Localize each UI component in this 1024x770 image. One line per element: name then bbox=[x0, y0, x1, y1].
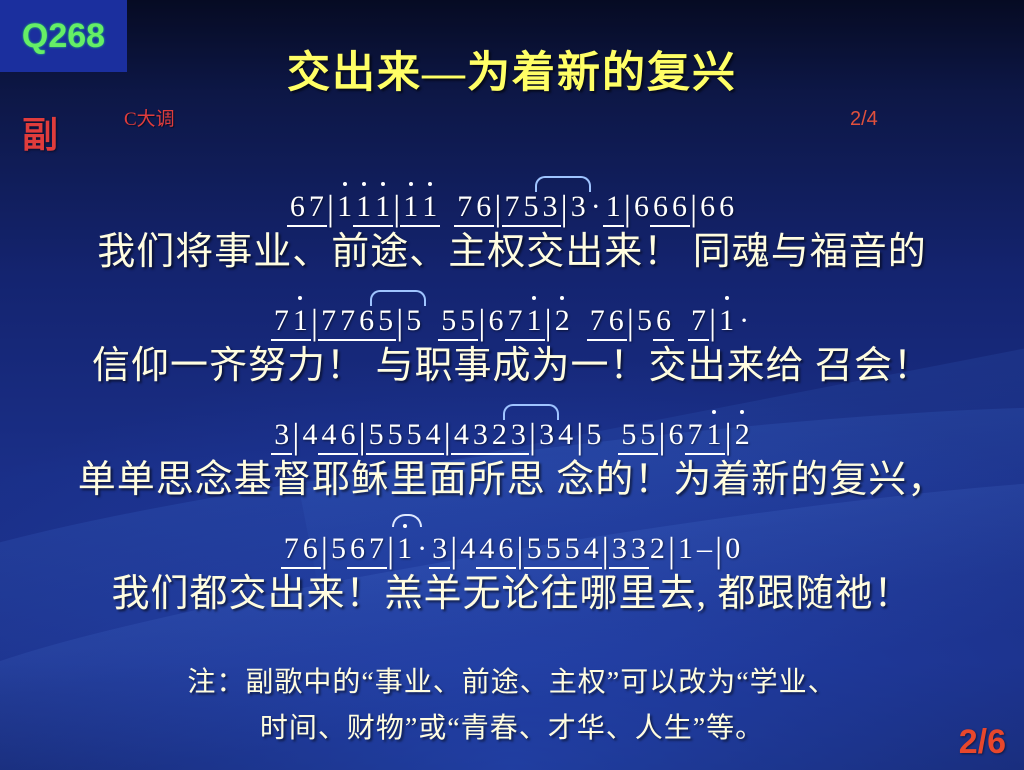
note: 5 bbox=[525, 534, 544, 564]
note: 6 bbox=[651, 192, 670, 222]
barline: | bbox=[357, 421, 366, 451]
barline: | bbox=[477, 307, 486, 337]
barline: | bbox=[528, 421, 537, 451]
note: 7 bbox=[307, 192, 326, 222]
note: 5 bbox=[458, 306, 477, 336]
note: 4 bbox=[424, 420, 443, 450]
note: 4 bbox=[319, 420, 338, 450]
note: 3 bbox=[272, 420, 291, 450]
duration-dot: · bbox=[736, 306, 752, 336]
note: 6 bbox=[698, 192, 717, 222]
note: 7 bbox=[506, 306, 525, 336]
key-signature-label: C大调 bbox=[124, 104, 175, 131]
note: 1 bbox=[525, 306, 544, 336]
note: 6 bbox=[496, 534, 515, 564]
note: 6 bbox=[667, 420, 686, 450]
note: 3 bbox=[610, 534, 629, 564]
barline: | bbox=[320, 535, 329, 565]
note: 5 bbox=[638, 420, 657, 450]
barline: | bbox=[544, 307, 553, 337]
note: 6 bbox=[717, 192, 736, 222]
barline: | bbox=[708, 307, 717, 337]
slide-canvas: Q268 交出来—为着新的复兴 副 C大调 2/4 67|111|1176|75… bbox=[0, 0, 1024, 770]
note: 3 bbox=[537, 420, 556, 450]
barline: | bbox=[291, 421, 300, 451]
note: 7 bbox=[689, 306, 708, 336]
note: 1 bbox=[373, 192, 392, 222]
duration-dot: · bbox=[588, 192, 604, 222]
note: 5 bbox=[619, 420, 638, 450]
note: 2 bbox=[648, 534, 667, 564]
barline: | bbox=[714, 535, 723, 565]
note: 5 bbox=[404, 306, 423, 336]
barline: | bbox=[326, 193, 335, 223]
page-title: 交出来—为着新的复兴 bbox=[0, 38, 1024, 100]
note: 1 bbox=[717, 306, 736, 336]
note: 4 bbox=[452, 420, 471, 450]
barline: | bbox=[667, 535, 676, 565]
note: 1 bbox=[335, 192, 354, 222]
footnote-block: 注：副歌中的“事业、前途、主权”可以改为“学业、 时间、财物”或“青春、才华、人… bbox=[0, 660, 1024, 752]
note: 7 bbox=[455, 192, 474, 222]
note: 2 bbox=[733, 420, 752, 450]
note: 3 bbox=[471, 420, 490, 450]
note: 3 bbox=[430, 534, 449, 564]
barline: | bbox=[493, 193, 502, 223]
note: 4 bbox=[300, 420, 319, 450]
lyric-line: 我们都交出来！羔羊无论往哪里去, 都跟随祂！ bbox=[0, 562, 1024, 617]
barline: | bbox=[449, 535, 458, 565]
duration-dot: · bbox=[414, 534, 430, 564]
note: 4 bbox=[458, 534, 477, 564]
note-row: 71|7765|555|671|276|567|1· bbox=[0, 290, 1024, 336]
barline: | bbox=[560, 193, 569, 223]
note: 6 bbox=[474, 192, 493, 222]
note: 6 bbox=[338, 420, 357, 450]
note: 1 bbox=[291, 306, 310, 336]
note: 7 bbox=[503, 192, 522, 222]
note: 5 bbox=[544, 534, 563, 564]
note: 2 bbox=[553, 306, 572, 336]
note: 7 bbox=[686, 420, 705, 450]
music-stave: 76|567|1·3|446|5554|332|1–|0我们都交出来！羔羊无论往… bbox=[0, 518, 1024, 617]
section-label: 副 bbox=[22, 106, 58, 158]
barline: | bbox=[601, 535, 610, 565]
note: 7 bbox=[588, 306, 607, 336]
note: 6 bbox=[607, 306, 626, 336]
footnote-line-1: 注：副歌中的“事业、前途、主权”可以改为“学业、 bbox=[0, 660, 1024, 706]
note: 4 bbox=[477, 534, 496, 564]
note: 5 bbox=[522, 192, 541, 222]
note: 5 bbox=[386, 420, 405, 450]
barline: | bbox=[724, 421, 733, 451]
breath-mark bbox=[392, 514, 422, 527]
note: 5 bbox=[329, 534, 348, 564]
note-row: 3|446|5554|4323|34|555|671|2 bbox=[0, 404, 1024, 450]
note: 6 bbox=[670, 192, 689, 222]
lyric-line: 信仰一齐努力！ 与职事成为一！交出来给 召会！ bbox=[0, 334, 1024, 389]
note-row: 67|111|1176|753|3·1|666|66 bbox=[0, 176, 1024, 222]
barline: | bbox=[515, 535, 524, 565]
note: 5 bbox=[405, 420, 424, 450]
note: 1 bbox=[604, 192, 623, 222]
note: 0 bbox=[723, 534, 742, 564]
barline: | bbox=[657, 421, 666, 451]
note: 1 bbox=[395, 534, 414, 564]
note: 6 bbox=[654, 306, 673, 336]
note: 7 bbox=[282, 534, 301, 564]
note: 4 bbox=[556, 420, 575, 450]
note: 6 bbox=[348, 534, 367, 564]
note: 2 bbox=[490, 420, 509, 450]
music-stave: 71|7765|555|671|276|567|1·信仰一齐努力！ 与职事成为一… bbox=[0, 290, 1024, 389]
page-number: 2/6 bbox=[959, 723, 1006, 762]
note: 1 bbox=[676, 534, 695, 564]
note: 7 bbox=[319, 306, 338, 336]
note: 1 bbox=[705, 420, 724, 450]
barline: | bbox=[575, 421, 584, 451]
barline: | bbox=[395, 307, 404, 337]
lyric-line: 我们将事业、前途、主权交出来！ 同魂与福音的 bbox=[0, 220, 1024, 275]
barline: | bbox=[392, 193, 401, 223]
note: 6 bbox=[357, 306, 376, 336]
note: 3 bbox=[509, 420, 528, 450]
barline: | bbox=[443, 421, 452, 451]
duration-dash: – bbox=[695, 534, 714, 564]
note: 6 bbox=[487, 306, 506, 336]
note: 5 bbox=[367, 420, 386, 450]
note: 3 bbox=[629, 534, 648, 564]
music-stave: 3|446|5554|4323|34|555|671|2单单思念基督耶稣里面所思… bbox=[0, 404, 1024, 503]
note: 7 bbox=[338, 306, 357, 336]
note: 5 bbox=[563, 534, 582, 564]
note: 1 bbox=[420, 192, 439, 222]
barline: | bbox=[623, 193, 632, 223]
note: 5 bbox=[635, 306, 654, 336]
lyric-line: 单单思念基督耶稣里面所思 念的！为着新的复兴， bbox=[0, 448, 1024, 503]
music-stave: 67|111|1176|753|3·1|666|66我们将事业、前途、主权交出来… bbox=[0, 176, 1024, 275]
barline: | bbox=[386, 535, 395, 565]
note: 5 bbox=[439, 306, 458, 336]
note: 7 bbox=[272, 306, 291, 336]
note: 6 bbox=[288, 192, 307, 222]
note: 1 bbox=[401, 192, 420, 222]
note: 3 bbox=[541, 192, 560, 222]
note: 6 bbox=[632, 192, 651, 222]
barline: | bbox=[689, 193, 698, 223]
note: 3 bbox=[569, 192, 588, 222]
barline: | bbox=[626, 307, 635, 337]
note: 5 bbox=[376, 306, 395, 336]
note: 5 bbox=[584, 420, 603, 450]
note: 7 bbox=[367, 534, 386, 564]
barline: | bbox=[310, 307, 319, 337]
note-row: 76|567|1·3|446|5554|332|1–|0 bbox=[0, 518, 1024, 564]
footnote-line-2: 时间、财物”或“青春、才华、人生”等。 bbox=[0, 706, 1024, 752]
note: 4 bbox=[582, 534, 601, 564]
note: 6 bbox=[301, 534, 320, 564]
time-signature-label: 2/4 bbox=[850, 108, 878, 131]
note: 1 bbox=[354, 192, 373, 222]
